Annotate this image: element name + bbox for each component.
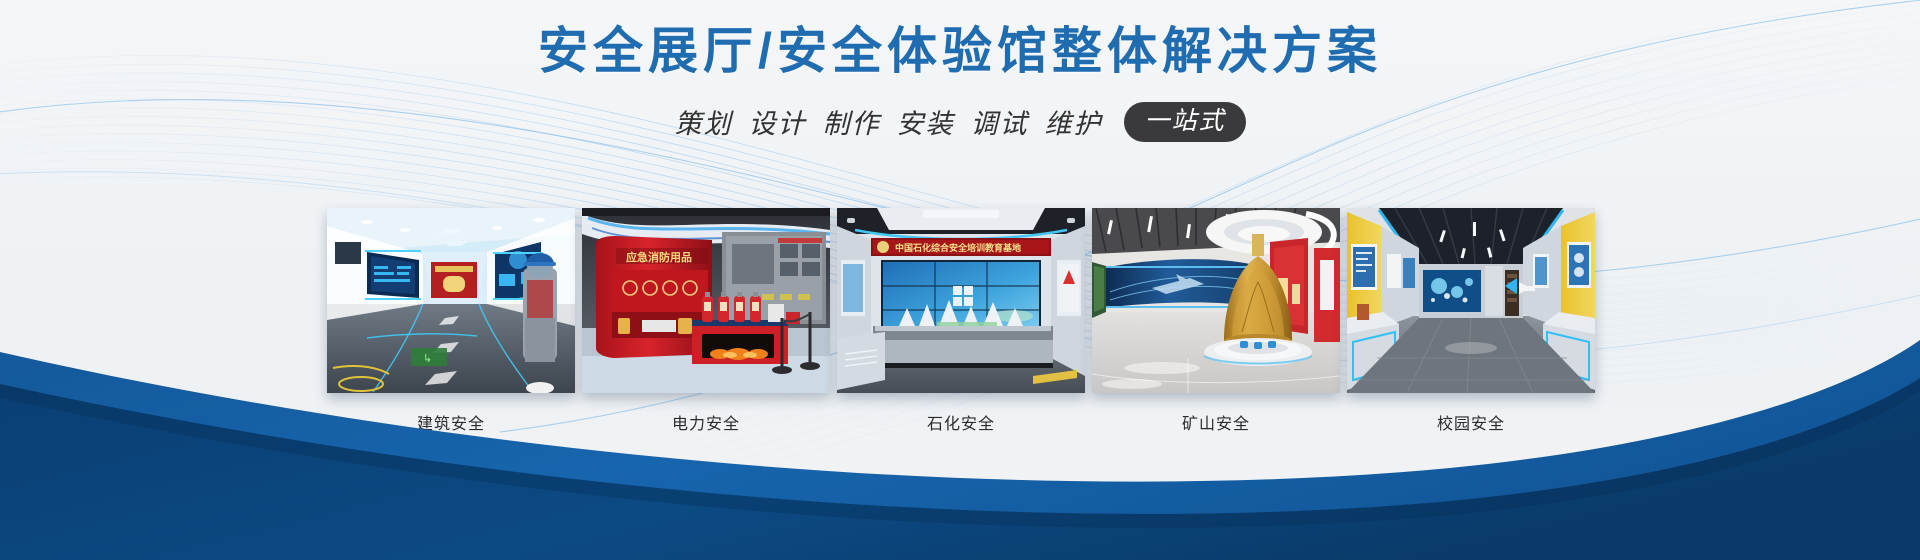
- subtitle-item-3: 安装: [896, 102, 954, 141]
- svg-text:中国石化综合安全培训教育基地: 中国石化综合安全培训教育基地: [895, 242, 1021, 253]
- subtitle-item-5: 维护: [1044, 102, 1102, 141]
- promo-banner: 安全展厅/安全体验馆整体解决方案 策划设计制作安装调试维护一站式 ↳ 建筑安全 …: [0, 0, 1920, 560]
- headline-block: 安全展厅/安全体验馆整体解决方案 策划设计制作安装调试维护一站式: [0, 0, 1920, 142]
- page-title: 安全展厅/安全体验馆整体解决方案: [0, 25, 1920, 78]
- svg-text:应急消防用品: 应急消防用品: [626, 250, 692, 264]
- subtitle-item-1: 设计: [748, 102, 806, 141]
- subtitle-item-0: 策划: [674, 102, 732, 141]
- one-stop-badge: 一站式: [1124, 102, 1245, 143]
- bottom-wave-decoration: [0, 300, 1920, 560]
- subtitle-item-4: 调试: [970, 102, 1028, 141]
- subtitle-row: 策划设计制作安装调试维护一站式: [0, 102, 1920, 143]
- subtitle-item-2: 制作: [822, 102, 880, 141]
